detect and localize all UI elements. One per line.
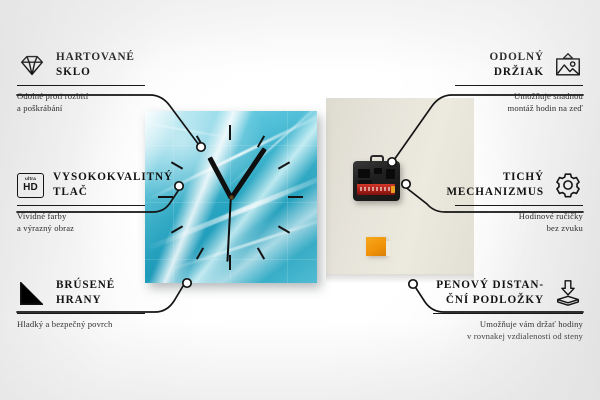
hour-tick-3 bbox=[288, 196, 303, 198]
feature-description-line2: v rovnakej vzdialenosti od steny bbox=[368, 330, 583, 342]
feature-description-line1: Hodinové ručičky bbox=[368, 210, 583, 222]
gear-icon bbox=[553, 170, 583, 200]
feature-description-line2: a výrazný obraz bbox=[17, 222, 232, 234]
foam-spacer-pad-side bbox=[386, 241, 391, 256]
feature-description-line2: a poškrábání bbox=[17, 102, 232, 114]
feature-tempered-glass[interactable]: HARTOVANÉ SKLO Odolné proti rozbití a po… bbox=[17, 48, 232, 114]
feature-description-line2: montáž hodin na zeď bbox=[368, 102, 583, 114]
diamond-icon bbox=[17, 50, 47, 80]
feature-heading: BRÚSENÉ HRANY bbox=[17, 276, 232, 310]
feature-foam-spacers[interactable]: PENOVÝ DISTAN- ČNÍ PODLOŽKY Umožňuje vám… bbox=[368, 276, 583, 342]
feature-divider bbox=[17, 85, 145, 86]
feature-high-quality-print[interactable]: ultra HD VYSOKOKVALITNÝ TLAČ Vividné far… bbox=[17, 168, 232, 234]
feature-heading: ultra HD VYSOKOKVALITNÝ TLAČ bbox=[17, 168, 232, 202]
ultra-hd-icon-bottom-label: HD bbox=[23, 183, 38, 193]
feature-title: VYSOKOKVALITNÝ TLAČ bbox=[53, 170, 173, 200]
infographic-canvas: HARTOVANÉ SKLO Odolné proti rozbití a po… bbox=[0, 0, 600, 400]
feature-durable-hanger[interactable]: ODOLNÝ DRŽIAK Umožňuje snadnou montáž ho… bbox=[368, 48, 583, 114]
picture-frame-hanger-icon bbox=[553, 50, 583, 80]
feature-heading: HARTOVANÉ SKLO bbox=[17, 48, 232, 82]
feature-divider bbox=[455, 205, 583, 206]
foam-spacer-pad bbox=[366, 237, 386, 256]
feature-divider bbox=[455, 85, 583, 86]
ultra-hd-icon: ultra HD bbox=[17, 173, 44, 198]
feature-title: ODOLNÝ DRŽIAK bbox=[489, 50, 544, 80]
feature-title: PENOVÝ DISTAN- ČNÍ PODLOŽKY bbox=[436, 278, 544, 308]
feature-description-line2: bez zvuku bbox=[368, 222, 583, 234]
feature-description-line1: Vividné farby bbox=[17, 210, 232, 222]
feature-description-line1: Umožňuje vám držať hodiny bbox=[368, 318, 583, 330]
feature-divider bbox=[433, 313, 583, 314]
feature-heading: ODOLNÝ DRŽIAK bbox=[368, 48, 583, 82]
feature-description-line1: Umožňuje snadnou bbox=[368, 90, 583, 102]
hour-tick-6 bbox=[229, 255, 231, 270]
feature-divider bbox=[17, 205, 145, 206]
feature-divider bbox=[17, 313, 145, 314]
mechanism-hanger-tab bbox=[370, 155, 384, 163]
foam-pad-press-icon bbox=[553, 278, 583, 308]
feature-title: HARTOVANÉ SKLO bbox=[56, 50, 135, 80]
feature-silent-mechanism[interactable]: TICHÝ MECHANIZMUS Hodinové ručičky bez z… bbox=[368, 168, 583, 234]
feature-title: TICHÝ MECHANIZMUS bbox=[446, 170, 544, 200]
feature-title: BRÚSENÉ HRANY bbox=[56, 278, 115, 308]
feature-description-line1: Odolné proti rozbití bbox=[17, 90, 232, 102]
hour-tick-12 bbox=[229, 125, 231, 140]
beveled-edge-icon bbox=[17, 278, 47, 308]
feature-description-line1: Hladký a bezpečný povrch bbox=[17, 318, 232, 330]
feature-heading: TICHÝ MECHANIZMUS bbox=[368, 168, 583, 202]
feature-ground-edges[interactable]: BRÚSENÉ HRANY Hladký a bezpečný povrch bbox=[17, 276, 232, 330]
feature-heading: PENOVÝ DISTAN- ČNÍ PODLOŽKY bbox=[368, 276, 583, 310]
